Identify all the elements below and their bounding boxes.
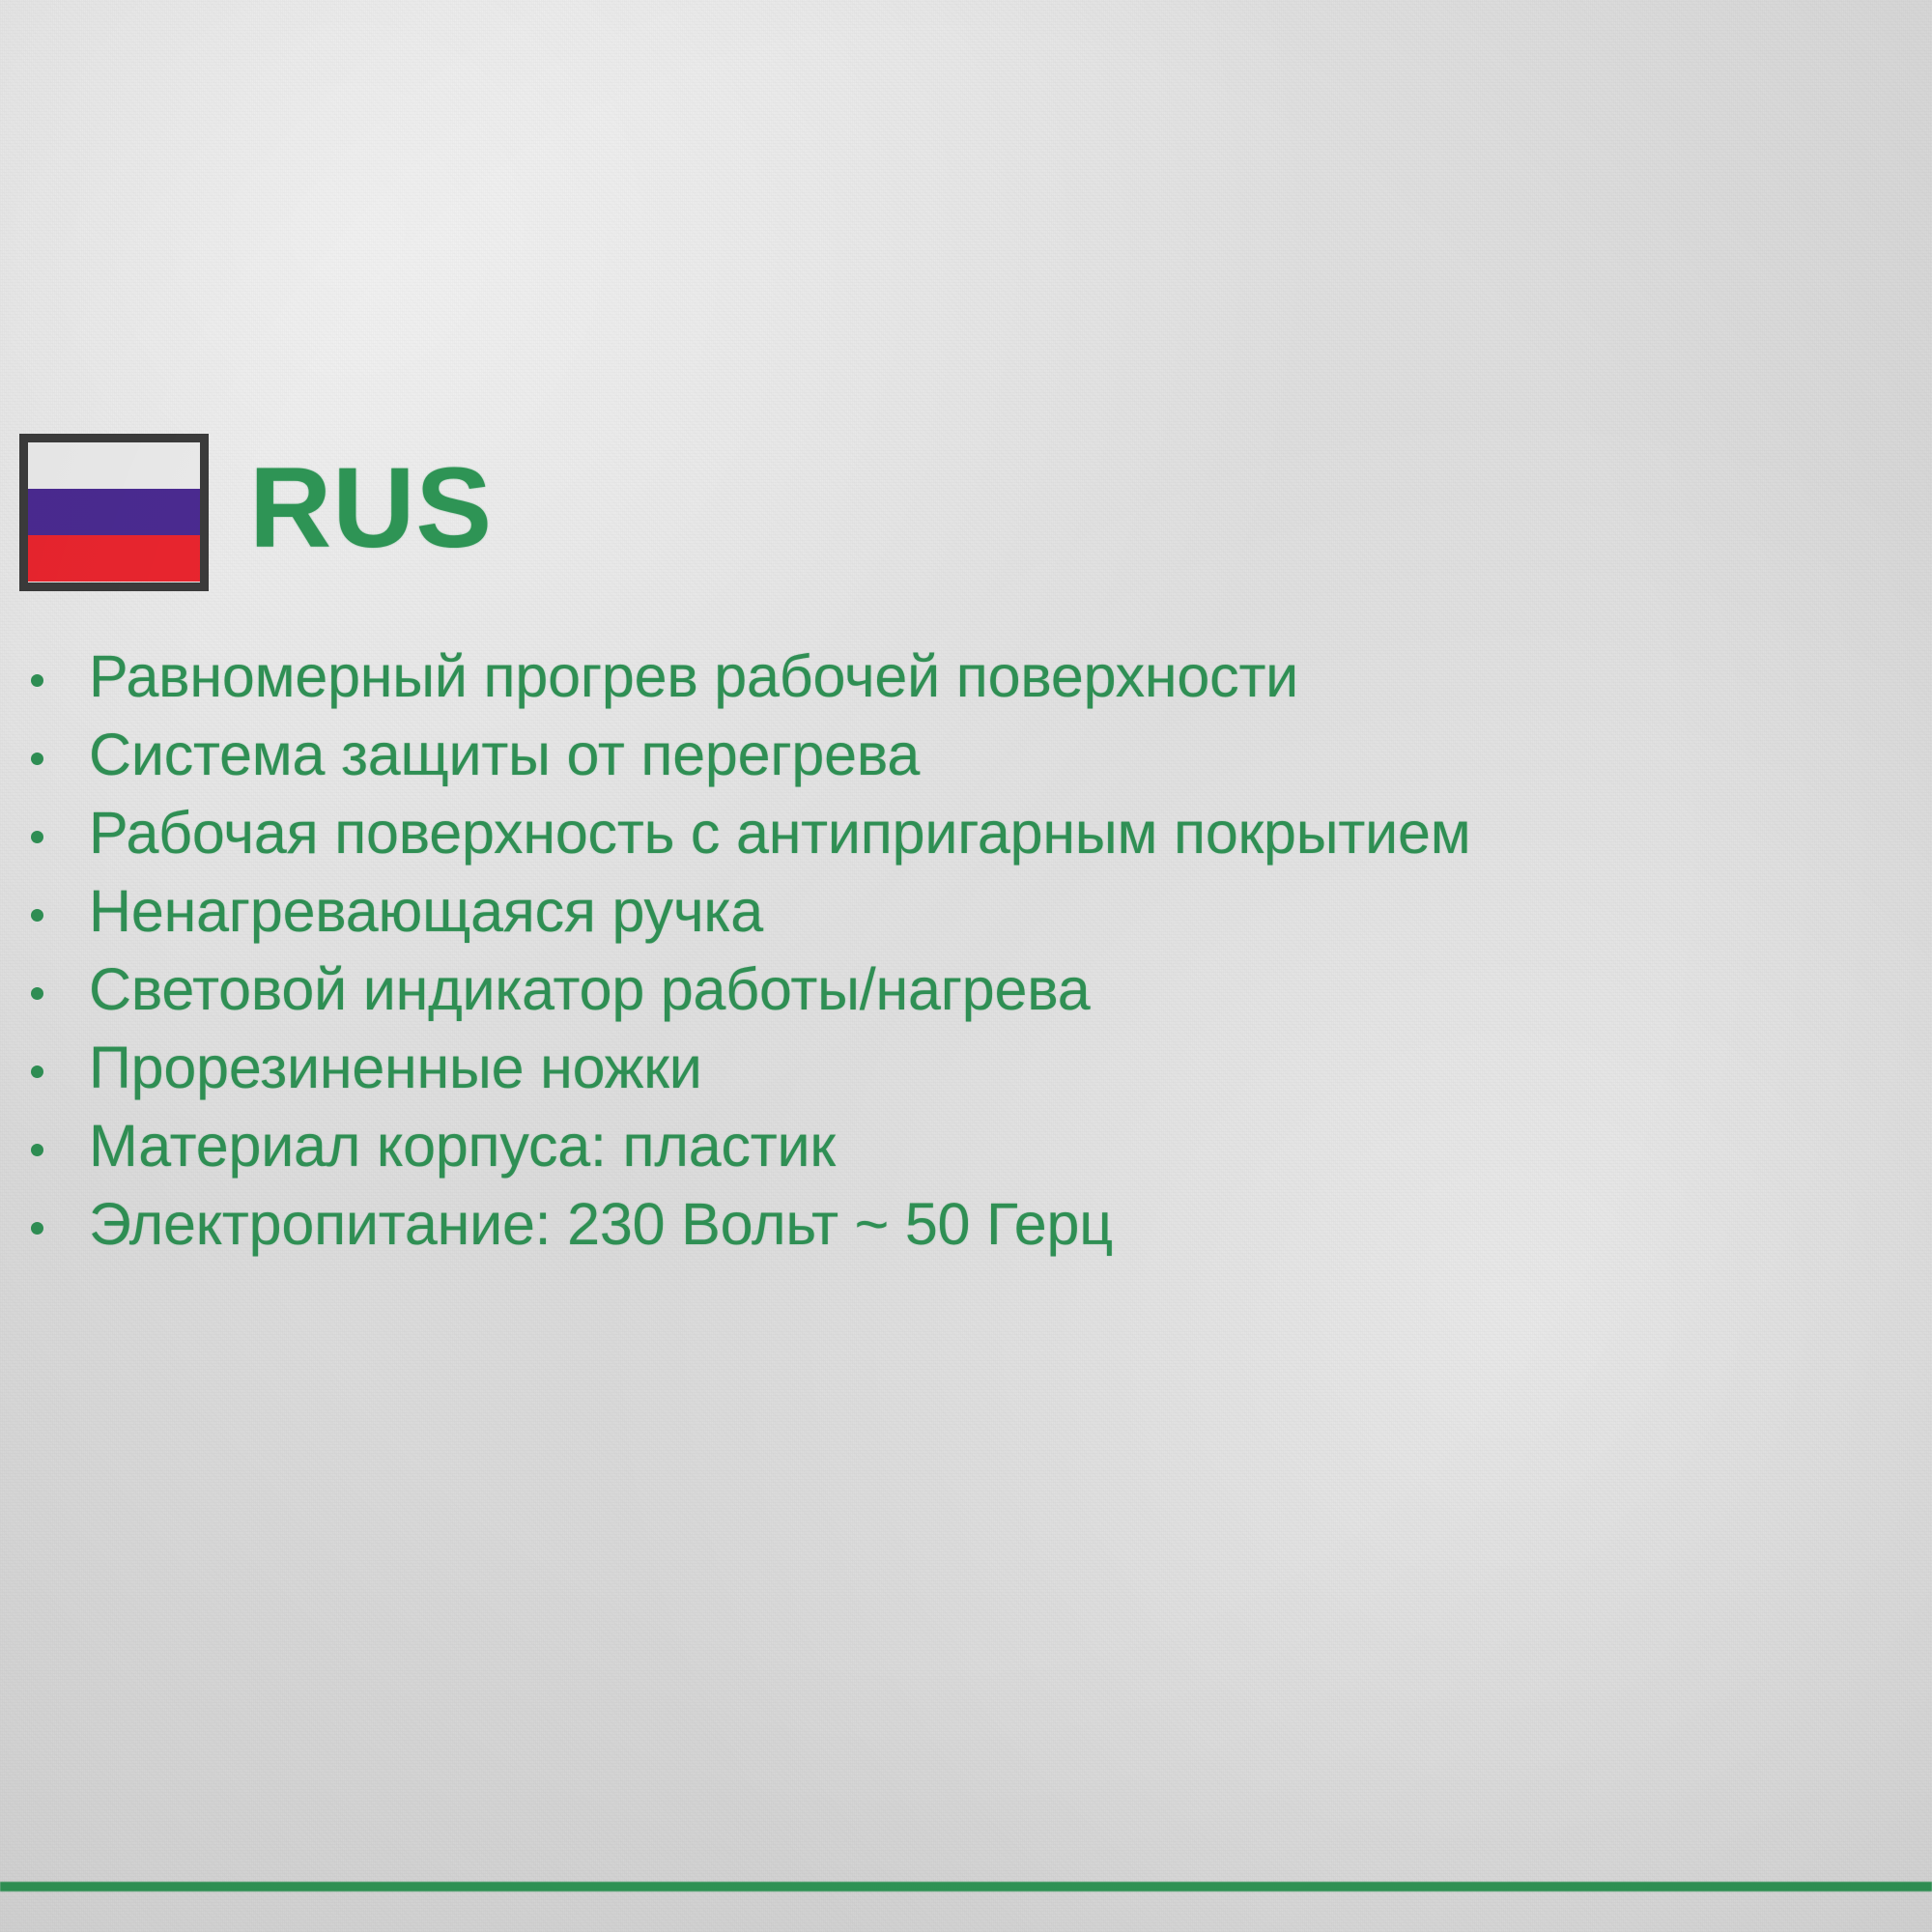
product-label-page: RUS Равномерный прогрев рабочей поверхно… [0, 0, 1932, 1932]
list-item: Световой индикатор работы/нагрева [10, 951, 1903, 1029]
feature-text: Электропитание: 230 Вольт ~ 50 Герц [89, 1191, 1113, 1257]
feature-text: Материал корпуса: пластик [89, 1113, 836, 1179]
list-item: Система защиты от перегрева [10, 716, 1903, 794]
bullet-icon [31, 1144, 43, 1156]
flag-stripe-red [28, 535, 200, 582]
flag-stripe-white [28, 442, 200, 489]
list-item: Ненагревающаяся ручка [10, 872, 1903, 951]
language-code-label: RUS [249, 451, 493, 565]
bullet-icon [31, 831, 43, 843]
feature-text: Прорезиненные ножки [89, 1035, 702, 1100]
feature-text: Ненагревающаяся ручка [89, 878, 763, 944]
feature-list: Равномерный прогрев рабочей поверхности … [10, 638, 1903, 1264]
section-divider [0, 1882, 1932, 1891]
bullet-icon [31, 753, 43, 765]
bullet-icon [31, 909, 43, 922]
bullet-icon [31, 674, 43, 687]
feature-text: Система защиты от перегрева [89, 722, 920, 787]
list-item: Материал корпуса: пластик [10, 1107, 1903, 1185]
language-header: RUS [19, 425, 493, 599]
bullet-icon [31, 1222, 43, 1235]
bullet-icon [31, 987, 43, 1000]
list-item: Прорезиненные ножки [10, 1029, 1903, 1107]
list-item: Рабочая поверхность с антипригарным покр… [10, 794, 1903, 872]
bullet-icon [31, 1065, 43, 1078]
feature-text: Световой индикатор работы/нагрева [89, 956, 1090, 1022]
feature-text: Равномерный прогрев рабочей поверхности [89, 643, 1298, 709]
list-item: Равномерный прогрев рабочей поверхности [10, 638, 1903, 716]
list-item: Электропитание: 230 Вольт ~ 50 Герц [10, 1185, 1903, 1264]
flag-stripe-blue [28, 489, 200, 535]
russia-flag-icon [19, 434, 209, 591]
feature-text: Рабочая поверхность с антипригарным покр… [89, 800, 1471, 866]
cropped-footer-text [241, 1920, 1690, 1932]
